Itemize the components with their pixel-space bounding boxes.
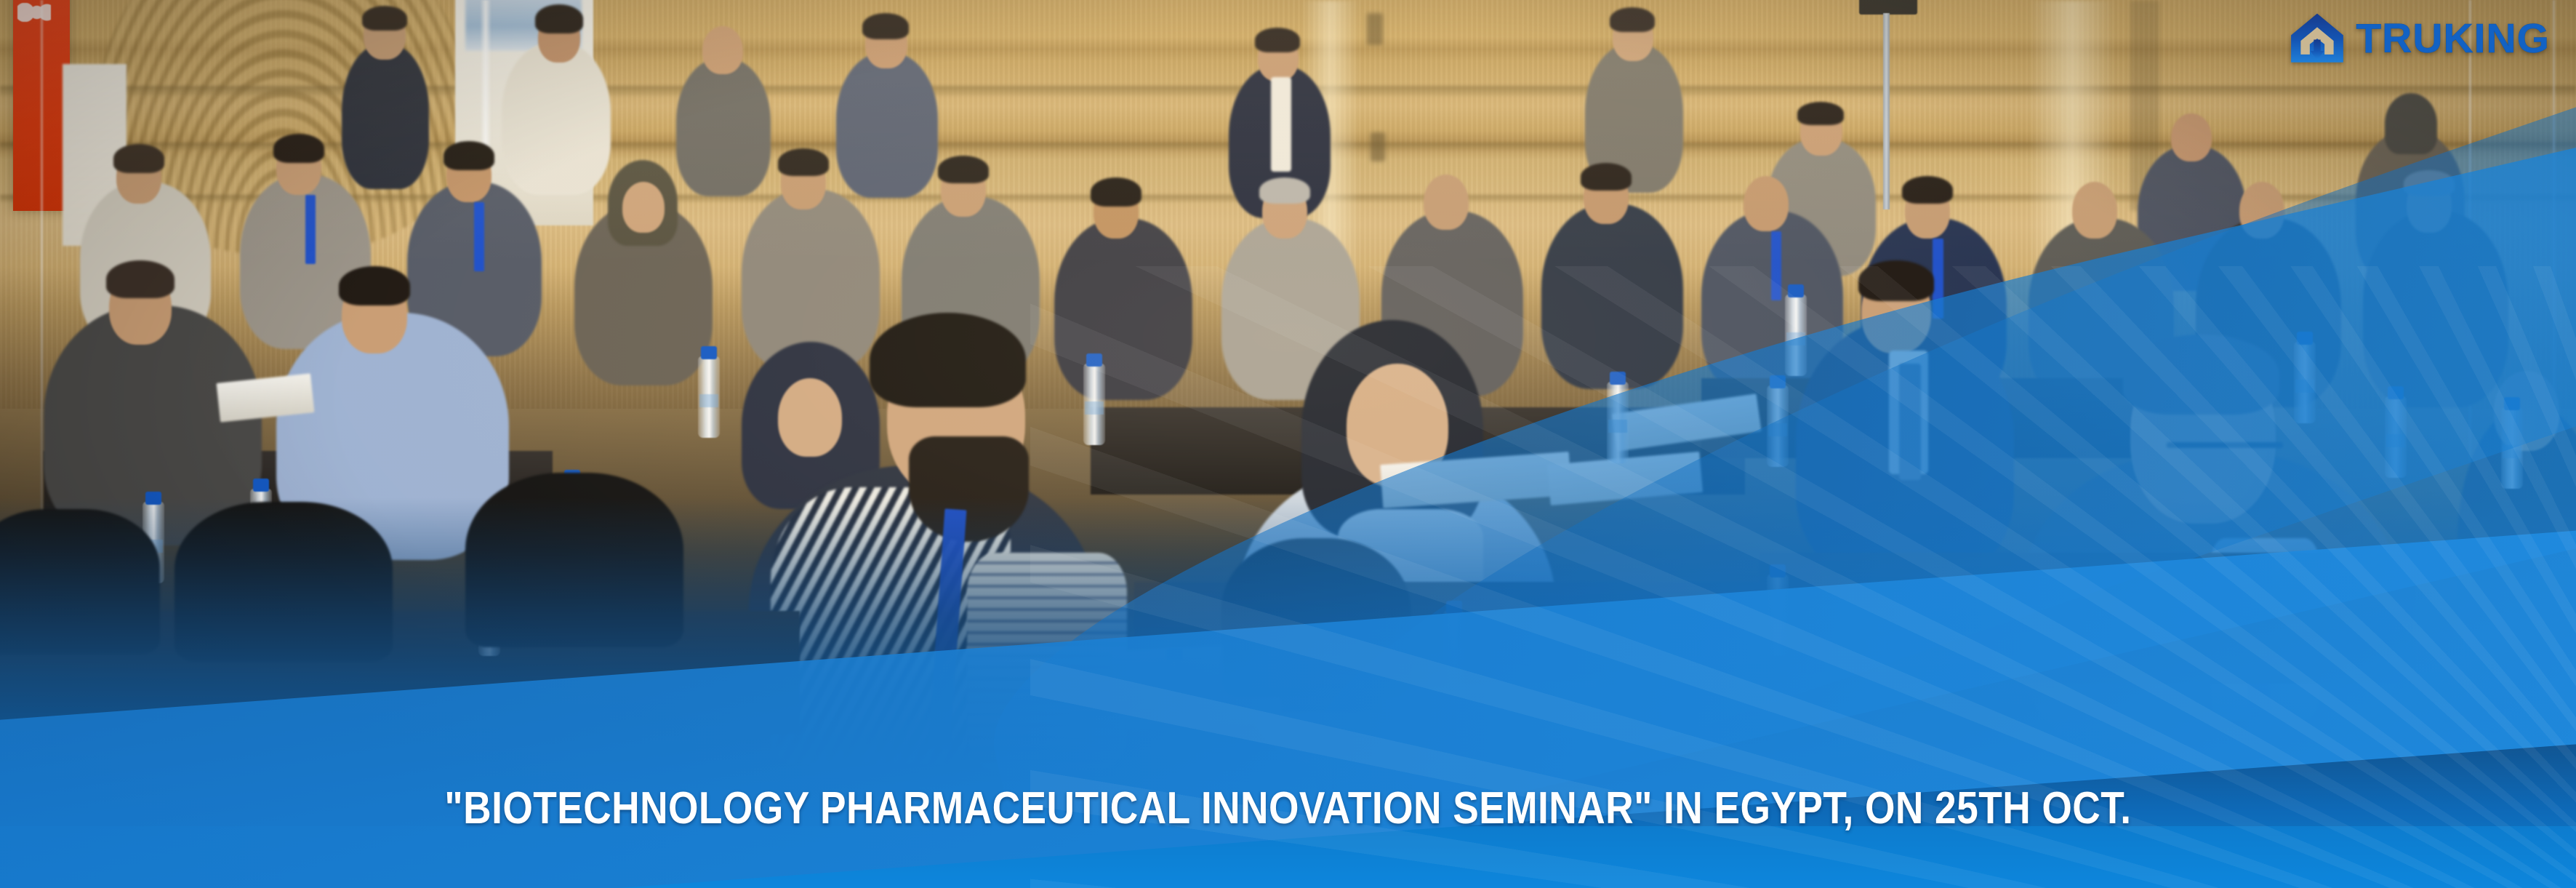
banner-caption: "BIOTECHNOLOGY PHARMACEUTICAL INNOVATION…	[180, 786, 2396, 831]
chair	[0, 509, 160, 655]
person-hair	[1091, 177, 1141, 207]
person-shirt	[967, 553, 1127, 771]
water-bottle	[2294, 342, 2316, 423]
water-bottle	[1163, 658, 1185, 740]
person-head	[2239, 182, 2284, 239]
water-bottle	[1785, 295, 1807, 376]
person-hair	[2123, 335, 2279, 415]
person-head	[778, 378, 842, 457]
person-hair	[778, 148, 829, 176]
person-head	[1424, 175, 1469, 230]
wall-panel	[1367, 13, 1383, 45]
chair	[1221, 538, 1411, 698]
person-hair	[1858, 260, 1934, 301]
person-head	[1744, 176, 1789, 231]
person-hair	[106, 260, 174, 298]
person-hair	[870, 313, 1026, 407]
ceiling-speaker-icon	[1859, 0, 1917, 15]
water-bottle	[2501, 407, 2523, 489]
conference-table	[1760, 553, 2414, 684]
truking-wordmark: TRUKING	[2356, 18, 2550, 60]
person-hair	[1259, 177, 1310, 204]
person-hair	[362, 6, 407, 31]
lanyard	[474, 202, 484, 271]
person	[2363, 211, 2508, 407]
person-tie	[1899, 364, 1921, 480]
person-head	[622, 182, 665, 233]
lanyard	[1933, 239, 1943, 319]
water-bottle	[2385, 396, 2407, 478]
person	[502, 42, 611, 195]
person-hair	[535, 4, 583, 33]
person-hair	[862, 13, 909, 39]
person	[1054, 218, 1192, 400]
person-hair	[273, 134, 324, 163]
eyeglasses	[2167, 442, 2283, 448]
truking-logo[interactable]: TRUKING	[2289, 10, 2550, 67]
person-hair	[444, 141, 494, 170]
person-shirt	[1271, 77, 1291, 172]
person-hair	[1581, 163, 1632, 191]
water-bottle	[1083, 364, 1105, 445]
chair	[174, 502, 393, 662]
person-head	[702, 26, 743, 74]
person	[676, 58, 771, 196]
person-hair	[113, 144, 164, 173]
person-hair	[938, 156, 989, 183]
person-hair	[1797, 102, 1844, 125]
rollup-banner-logo	[17, 3, 51, 22]
person-hair	[2404, 170, 2455, 196]
person-beard	[909, 436, 1029, 542]
person	[836, 52, 938, 198]
truking-emblem-icon	[2289, 10, 2346, 67]
water-bottle	[1607, 382, 1629, 463]
speaker-pole	[1883, 13, 1890, 209]
water-bottle	[1767, 385, 1789, 467]
seminar-banner: TRUKING "BIOTECHNOLOGY PHARMACEUTICAL IN…	[0, 0, 2576, 888]
person	[342, 44, 429, 189]
conference-photo	[0, 0, 2576, 888]
water-bottle	[698, 356, 720, 438]
person-hair	[339, 266, 410, 305]
person	[1541, 204, 1683, 389]
person-hair	[1610, 7, 1655, 32]
lanyard	[1771, 231, 1781, 300]
person-head	[2072, 182, 2117, 239]
wall-panel	[1371, 132, 1385, 161]
lanyard	[305, 195, 316, 264]
person-headscarf	[2385, 93, 2437, 154]
person-hair	[1255, 28, 1300, 52]
name-card	[1381, 680, 1601, 745]
water-bottle	[1443, 611, 1465, 692]
water-bottle	[1767, 575, 1789, 656]
person-head	[2171, 113, 2212, 161]
chair	[465, 473, 683, 647]
person-hair	[1902, 176, 1953, 204]
